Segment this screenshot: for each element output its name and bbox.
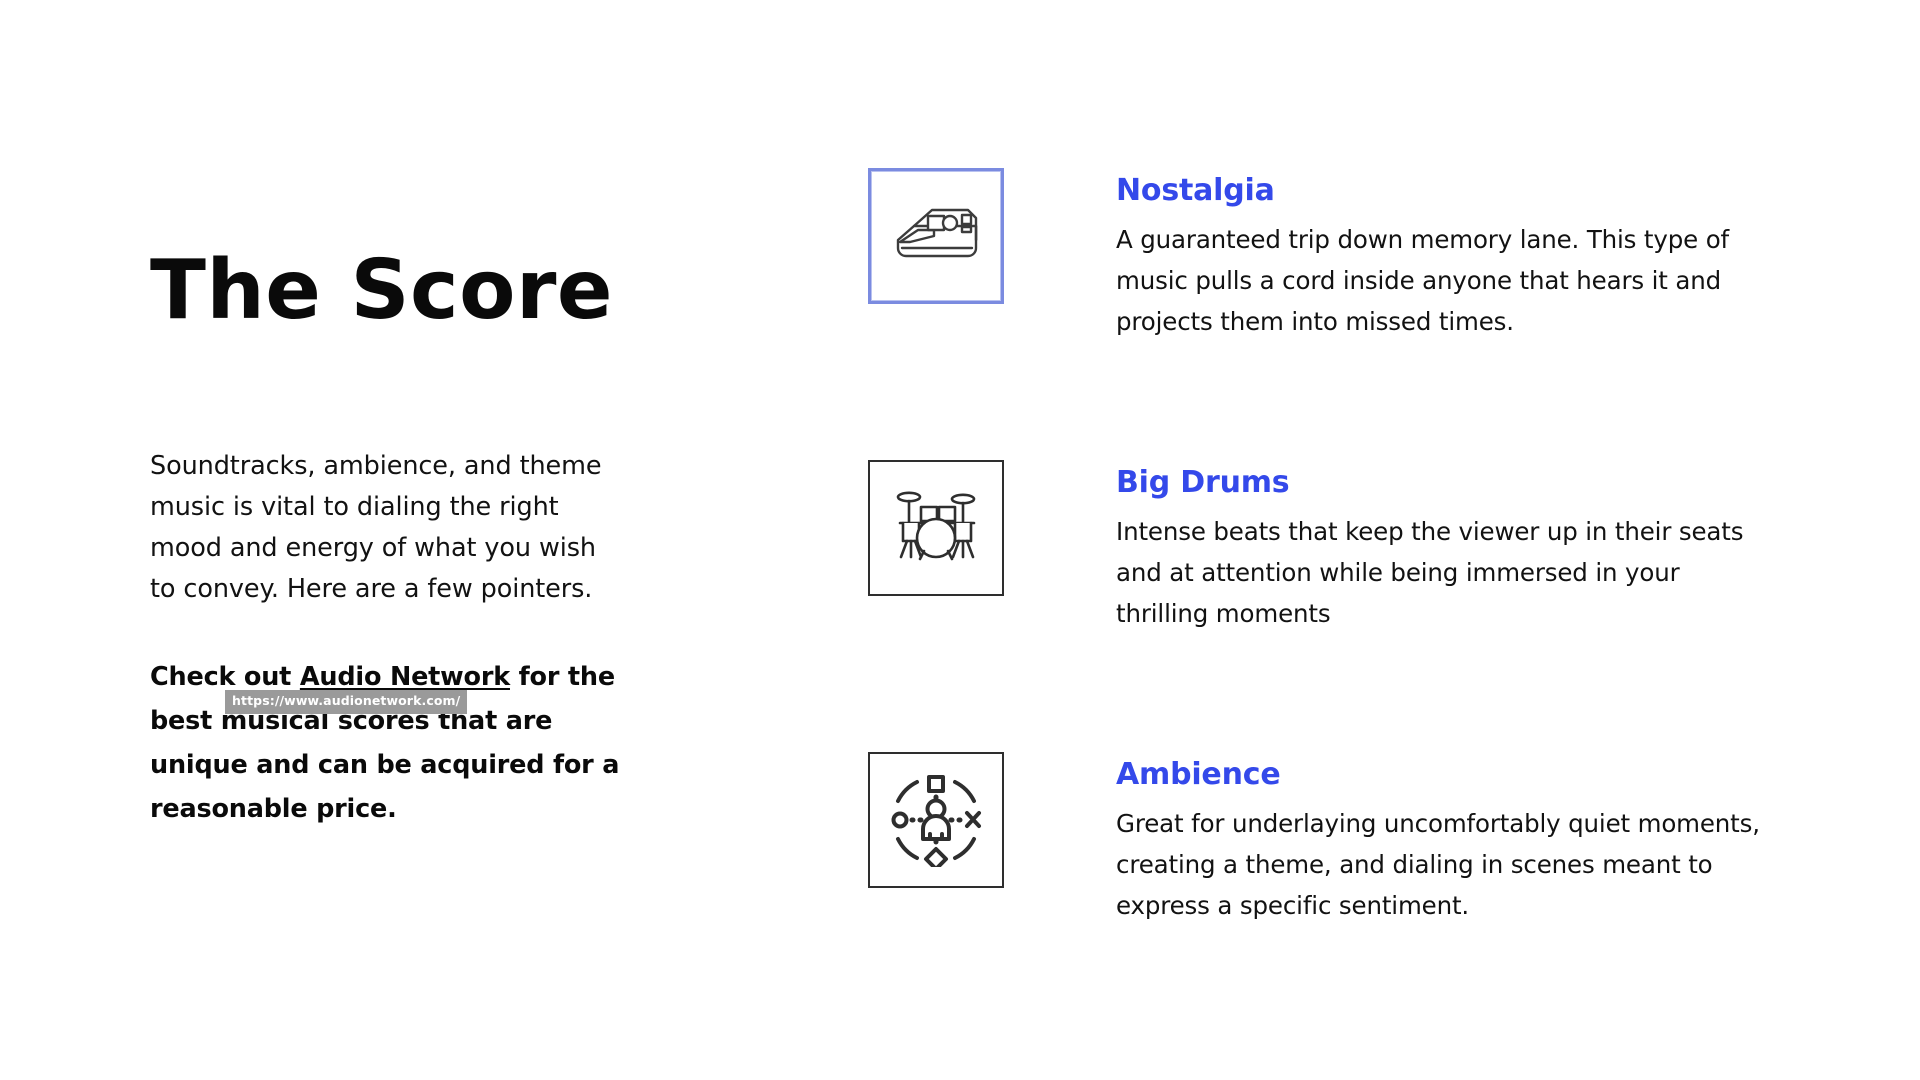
feature-text-ambience: Ambience Great for underlaying uncomfort… bbox=[1116, 752, 1776, 926]
intro-paragraph: Soundtracks, ambience, and theme music i… bbox=[150, 334, 620, 610]
cta-paragraph: Check out Audio Network for the best mus… bbox=[150, 610, 620, 831]
feature-title-nostalgia: Nostalgia bbox=[1116, 174, 1776, 207]
slide-canvas: The Score Soundtracks, ambience, and the… bbox=[0, 0, 1920, 1080]
feature-item-big-drums: Big Drums Intense beats that keep the vi… bbox=[868, 460, 1828, 634]
left-content-column: The Score Soundtracks, ambience, and the… bbox=[150, 120, 670, 831]
feature-description-big-drums: Intense beats that keep the viewer up in… bbox=[1116, 511, 1776, 634]
feature-item-ambience: Ambience Great for underlaying uncomfort… bbox=[868, 752, 1828, 926]
cta-prefix-text: Check out bbox=[150, 662, 300, 692]
features-list: Nostalgia A guaranteed trip down memory … bbox=[868, 168, 1828, 926]
page-title: The Score bbox=[150, 120, 670, 334]
icon-box-nostalgia[interactable] bbox=[868, 168, 1004, 304]
icon-box-big-drums[interactable] bbox=[868, 460, 1004, 596]
feature-text-big-drums: Big Drums Intense beats that keep the vi… bbox=[1116, 460, 1776, 634]
feature-item-nostalgia: Nostalgia A guaranteed trip down memory … bbox=[868, 168, 1828, 342]
audio-network-link[interactable]: Audio Network bbox=[300, 662, 510, 692]
feature-text-nostalgia: Nostalgia A guaranteed trip down memory … bbox=[1116, 168, 1776, 342]
feature-title-big-drums: Big Drums bbox=[1116, 466, 1776, 499]
icon-box-ambience[interactable] bbox=[868, 752, 1004, 888]
feature-description-nostalgia: A guaranteed trip down memory lane. This… bbox=[1116, 219, 1776, 342]
feature-title-ambience: Ambience bbox=[1116, 758, 1776, 791]
link-url-tooltip: https://www.audionetwork.com/ bbox=[225, 690, 467, 714]
drum-kit-icon bbox=[890, 487, 982, 569]
instant-camera-icon bbox=[888, 196, 984, 276]
ambience-target-person-icon bbox=[889, 773, 983, 867]
feature-description-ambience: Great for underlaying uncomfortably quie… bbox=[1116, 803, 1776, 926]
